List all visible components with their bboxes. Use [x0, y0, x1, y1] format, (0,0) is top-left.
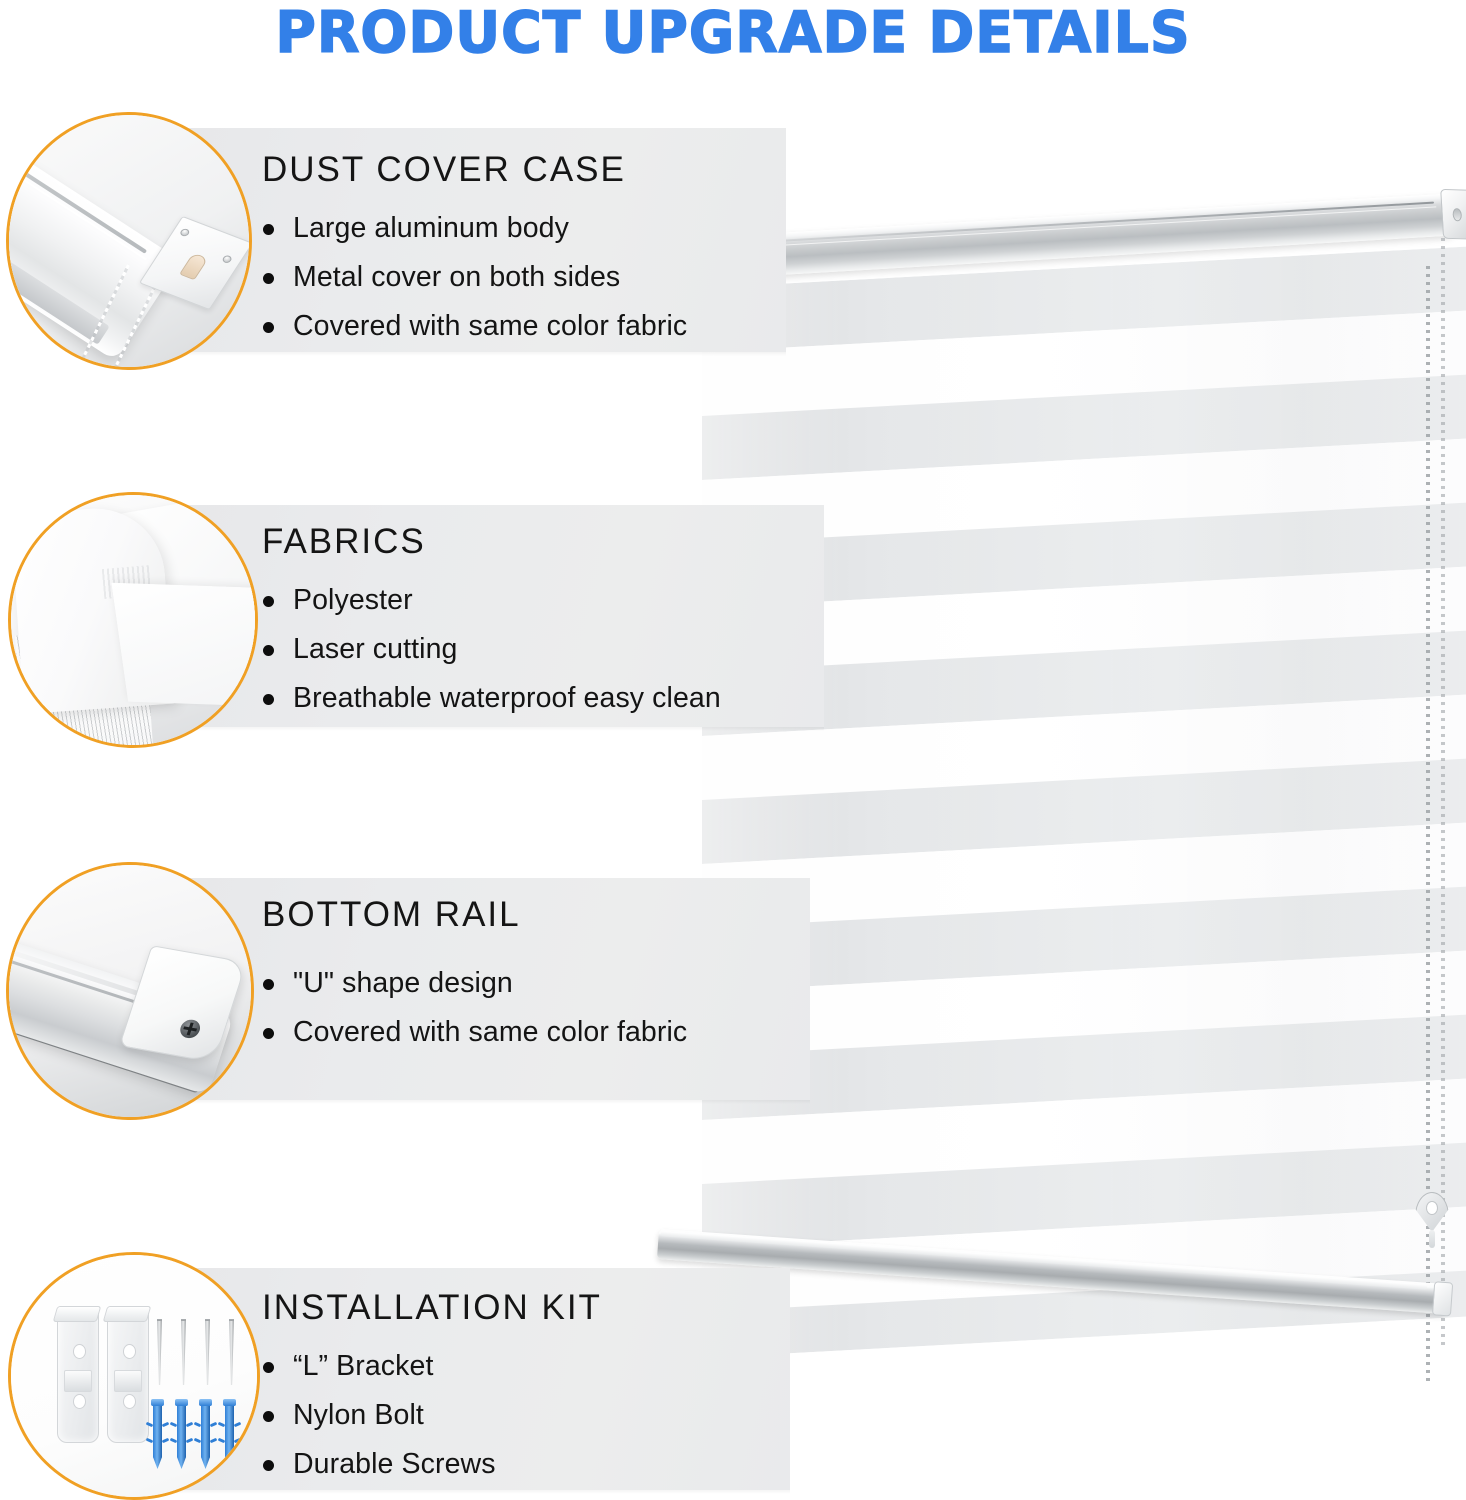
feature-list: “L” Bracket Nylon Bolt Durable Screws — [262, 1342, 602, 1489]
section-title: DUST COVER CASE — [262, 150, 687, 190]
photo-fabrics — [8, 492, 258, 748]
section-title: FABRICS — [262, 522, 721, 562]
bullet-icon — [263, 1460, 274, 1471]
section-title: BOTTOM RAIL — [262, 895, 687, 935]
list-item: Laser cutting — [262, 625, 721, 674]
list-item: Nylon Bolt — [262, 1391, 602, 1440]
section-title: INSTALLATION KIT — [262, 1288, 602, 1328]
list-item: "U" shape design — [262, 959, 687, 1008]
l-bracket — [57, 1311, 99, 1443]
bullet-icon — [263, 1411, 274, 1422]
nylon-anchor — [151, 1403, 164, 1469]
l-bracket — [107, 1311, 149, 1443]
list-item-label: Covered with same color fabric — [293, 1016, 687, 1048]
bullet-icon — [263, 979, 274, 990]
product-upgrade-infographic: PRODUCT UPGRADE DETAILS — [0, 0, 1466, 1500]
list-item: Covered with same color fabric — [262, 302, 687, 351]
list-item-label: Covered with same color fabric — [293, 310, 687, 342]
text-fabrics: FABRICS Polyester Laser cutting Breathab… — [262, 522, 721, 723]
list-item: Large aluminum body — [262, 204, 687, 253]
text-bottom-rail: BOTTOM RAIL "U" shape design Covered wit… — [262, 895, 687, 1057]
list-item: Covered with same color fabric — [262, 1008, 687, 1057]
page-title: PRODUCT UPGRADE DETAILS — [22, 2, 1444, 64]
bullet-icon — [263, 224, 274, 235]
text-installation-kit: INSTALLATION KIT “L” Bracket Nylon Bolt … — [262, 1288, 602, 1489]
bullet-icon — [263, 1362, 274, 1373]
list-item-label: Durable Screws — [293, 1448, 496, 1480]
list-item-label: "U" shape design — [293, 967, 513, 999]
nylon-anchor — [223, 1403, 236, 1469]
list-item-label: Nylon Bolt — [293, 1399, 424, 1431]
list-item-label: Laser cutting — [293, 633, 457, 665]
bullet-icon — [263, 322, 274, 333]
bullet-icon — [263, 1028, 274, 1039]
photo-dust-cover-case — [6, 112, 252, 370]
photo-installation-kit — [8, 1252, 260, 1500]
list-item-label: Large aluminum body — [293, 212, 569, 244]
list-item: Durable Screws — [262, 1440, 602, 1489]
list-item: Breathable waterproof easy clean — [262, 674, 721, 723]
photo-bottom-rail — [6, 862, 254, 1120]
list-item-label: Metal cover on both sides — [293, 261, 620, 293]
list-item: Polyester — [262, 576, 721, 625]
list-item: “L” Bracket — [262, 1342, 602, 1391]
list-item: Metal cover on both sides — [262, 253, 687, 302]
text-dust-cover-case: DUST COVER CASE Large aluminum body Meta… — [262, 150, 687, 351]
feature-list: Large aluminum body Metal cover on both … — [262, 204, 687, 351]
nylon-anchor — [199, 1403, 212, 1469]
chain-weight[interactable] — [1415, 1192, 1449, 1240]
bead-chain-back[interactable] — [1441, 238, 1445, 1348]
list-item-label: Breathable waterproof easy clean — [293, 682, 721, 714]
zebra-fabric — [702, 246, 1466, 1358]
nylon-anchor — [175, 1403, 188, 1469]
feature-list: "U" shape design Covered with same color… — [262, 959, 687, 1057]
bullet-icon — [263, 596, 274, 607]
bullet-icon — [263, 273, 274, 284]
bullet-icon — [263, 645, 274, 656]
feature-list: Polyester Laser cutting Breathable water… — [262, 576, 721, 723]
list-item-label: “L” Bracket — [293, 1350, 433, 1382]
bullet-icon — [263, 694, 274, 705]
list-item-label: Polyester — [293, 584, 413, 616]
